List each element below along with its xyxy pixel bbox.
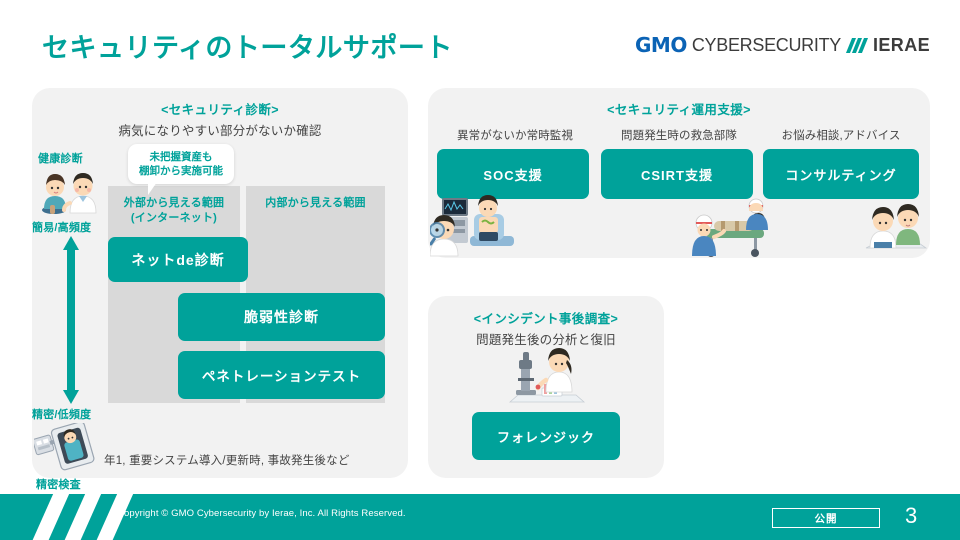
callout-line2: 棚卸から実施可能 [139,165,223,177]
service-button-csirt-support[interactable]: CSIRT支援 [601,149,753,199]
scope-external-line1: 外部から見える範囲 [124,197,224,209]
brand-gmo-text: GMO [635,33,687,57]
footer-copyright-text: Copyright © GMO Cybersecurity by Ierae, … [117,508,406,519]
operations-subtitle-consulting: お悩み相談,アドバイス [763,127,919,143]
page-title: セキュリティのトータルサポート [42,26,453,65]
operations-subtitle-soc: 異常がないか常時監視 [437,127,593,143]
service-button-consulting[interactable]: コンサルティング [763,149,919,199]
axis-label-precise-exam: 精密検査 [36,476,81,492]
service-button-forensics[interactable]: フォレンジック [472,412,620,460]
confidentiality-badge: 公開 [772,508,880,528]
axis-label-precise-low-frequency: 精密/低頻度 [32,406,91,422]
asset-inventory-callout: 未把握資産も 棚卸から実施可能 [128,144,234,184]
page-number: 3 [905,503,917,529]
service-button-vulnerability-diagnosis[interactable]: 脆弱性診断 [178,293,385,341]
brand-cybersecurity-text: CYBERSECURITY [692,35,841,56]
doctor-patient-checkup-illustration [36,163,102,215]
incident-panel-subtitle: 問題発生後の分析と復旧 [428,329,664,348]
consultation-meeting-illustration [862,196,928,258]
diagnosis-panel-subtitle: 病気になりやすい部分がないか確認 [32,120,408,139]
scope-label-internal: 内部から見える範囲 [246,196,385,211]
brand-logo: GMO CYBERSECURITY IERAE [635,33,930,57]
scope-external-line2: (インターネット) [131,212,217,224]
operations-subtitle-csirt: 問題発生時の救急部隊 [601,127,757,143]
diagnosis-frequency-note: 年1, 重要システム導入/更新時, 事故発生後など [104,452,350,468]
axis-label-simple-high-frequency: 簡易/高頻度 [32,219,91,235]
incident-panel-heading: <インシデント事後調査> [428,308,664,327]
operations-panel-heading: <セキュリティ運用支援> [428,99,930,118]
diagnosis-panel-heading: <セキュリティ診断> [32,99,408,118]
triple-slash-icon [849,38,865,53]
callout-tail-icon [148,182,157,195]
lab-researcher-microscope-illustration [508,348,586,406]
mri-scanner-illustration [34,423,96,473]
service-button-net-diagnosis[interactable]: ネットde診断 [108,237,248,282]
service-button-penetration-test[interactable]: ペネトレーションテスト [178,351,385,399]
callout-line1: 未把握資産も [150,151,213,163]
paramedics-stretcher-illustration [688,196,780,258]
frequency-double-arrow-icon [62,236,80,404]
brand-ierae-text: IERAE [873,35,930,56]
slide-root: セキュリティのトータルサポート GMO CYBERSECURITY IERAE … [0,0,960,540]
doctor-monitoring-patient-illustration [430,192,518,258]
scope-label-external: 外部から見える範囲 (インターネット) [108,196,240,226]
